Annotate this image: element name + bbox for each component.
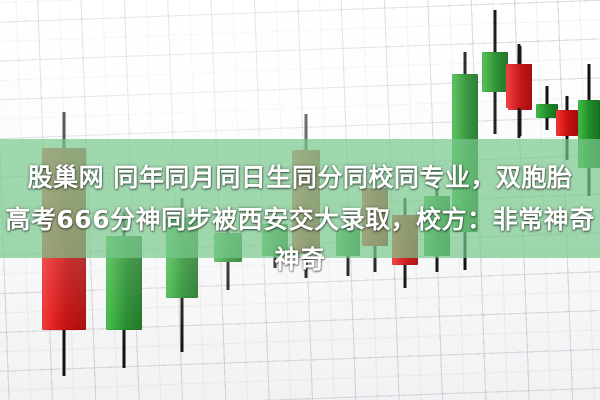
thumbnail-canvas: 股巢网 同年同月同日生同分同校同专业，双胞胎 高考666分神同步被西安交大录取，… bbox=[0, 0, 600, 400]
candle-body-down bbox=[556, 110, 578, 136]
candle-body-up bbox=[482, 52, 508, 92]
candle-body-up bbox=[536, 104, 558, 118]
headline-line-2: 高考666分神同步被西安交大录取，校方：非常神奇 bbox=[0, 205, 600, 235]
headline-line-1: 股巢网 同年同月同日生同分同校同专业，双胞胎 bbox=[0, 163, 600, 193]
headline-band bbox=[0, 139, 600, 258]
headline-line-3: 神奇 bbox=[0, 245, 600, 275]
candle-body-down bbox=[506, 64, 532, 108]
